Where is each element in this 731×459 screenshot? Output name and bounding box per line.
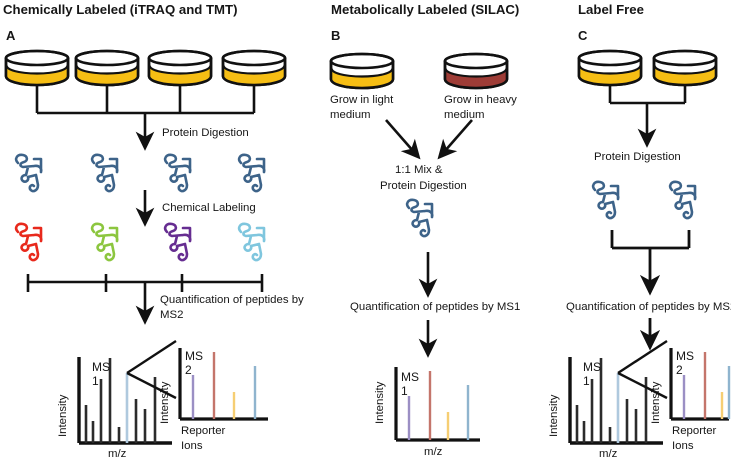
panel-b-title: Metabolically Labeled (SILAC)	[331, 2, 519, 17]
x-axis-label: m/z	[108, 448, 127, 459]
x-axis-label: m/z	[599, 448, 618, 459]
x-axis-label-2: Ions	[672, 440, 694, 452]
figure-canvas: Chemically Labeled (iTRAQ and TMT) Metab…	[0, 0, 731, 459]
y-axis-label: Intensity	[374, 381, 386, 424]
culture-dish	[149, 51, 211, 85]
x-axis-label: Reporter	[672, 425, 717, 437]
panel-b-mix-label: 1:1 Mix &	[395, 164, 443, 176]
ms2-title: MS	[185, 349, 203, 363]
panel-a-quant-label-2: MS2	[160, 309, 183, 321]
ms1-title-2: 1	[583, 374, 590, 388]
x-axis-label: m/z	[424, 446, 443, 458]
culture-dish-light	[331, 54, 393, 88]
culture-dish	[6, 51, 68, 85]
panel-b-letter: B	[331, 28, 340, 43]
culture-dish	[579, 51, 641, 85]
panel-b-dish1-caption-2: medium	[330, 109, 371, 121]
panel-b-dish2-caption: Grow in heavy	[444, 94, 517, 106]
panel-a-labeling-label: Chemical Labeling	[162, 202, 256, 214]
culture-dish	[76, 51, 138, 85]
panel-b-quant-label: Quantification of peptides by MS1	[350, 301, 520, 313]
ms1-title-2: 1	[401, 384, 408, 398]
y-axis-label: Intensity	[57, 394, 69, 437]
culture-dish-heavy	[445, 54, 507, 88]
panel-c-letter: C	[578, 28, 588, 43]
panel-a-quant-label: Quantification of peptides by	[160, 294, 304, 306]
ms2-title-2: 2	[676, 363, 683, 377]
panel-b-dish2-caption-2: medium	[444, 109, 485, 121]
culture-dish	[223, 51, 285, 85]
panel-a-letter: A	[6, 28, 16, 43]
panel-a-digestion-label: Protein Digestion	[162, 127, 249, 139]
panel-b-dish1-caption: Grow in light	[330, 94, 394, 106]
x-axis-label-2: Ions	[181, 440, 203, 452]
panel-c-digestion-label: Protein Digestion	[594, 151, 681, 163]
x-axis-label: Reporter	[181, 425, 226, 437]
ms1-title-2: 1	[92, 374, 99, 388]
panel-a-title: Chemically Labeled (iTRAQ and TMT)	[3, 2, 237, 17]
y-axis-label: Intensity	[159, 381, 171, 424]
ms1-title: MS	[92, 360, 110, 374]
ms2-title-2: 2	[185, 363, 192, 377]
ms1-title: MS	[583, 360, 601, 374]
y-axis-label: Intensity	[650, 381, 662, 424]
culture-dish	[654, 51, 716, 85]
panel-c-title: Label Free	[578, 2, 644, 17]
panel-c-quant-label: Quantification of peptides by MS2	[566, 301, 731, 313]
ms2-title: MS	[676, 349, 694, 363]
panel-b-mix-label-2: Protein Digestion	[380, 180, 467, 192]
y-axis-label: Intensity	[548, 394, 560, 437]
ms1-title: MS	[401, 370, 419, 384]
